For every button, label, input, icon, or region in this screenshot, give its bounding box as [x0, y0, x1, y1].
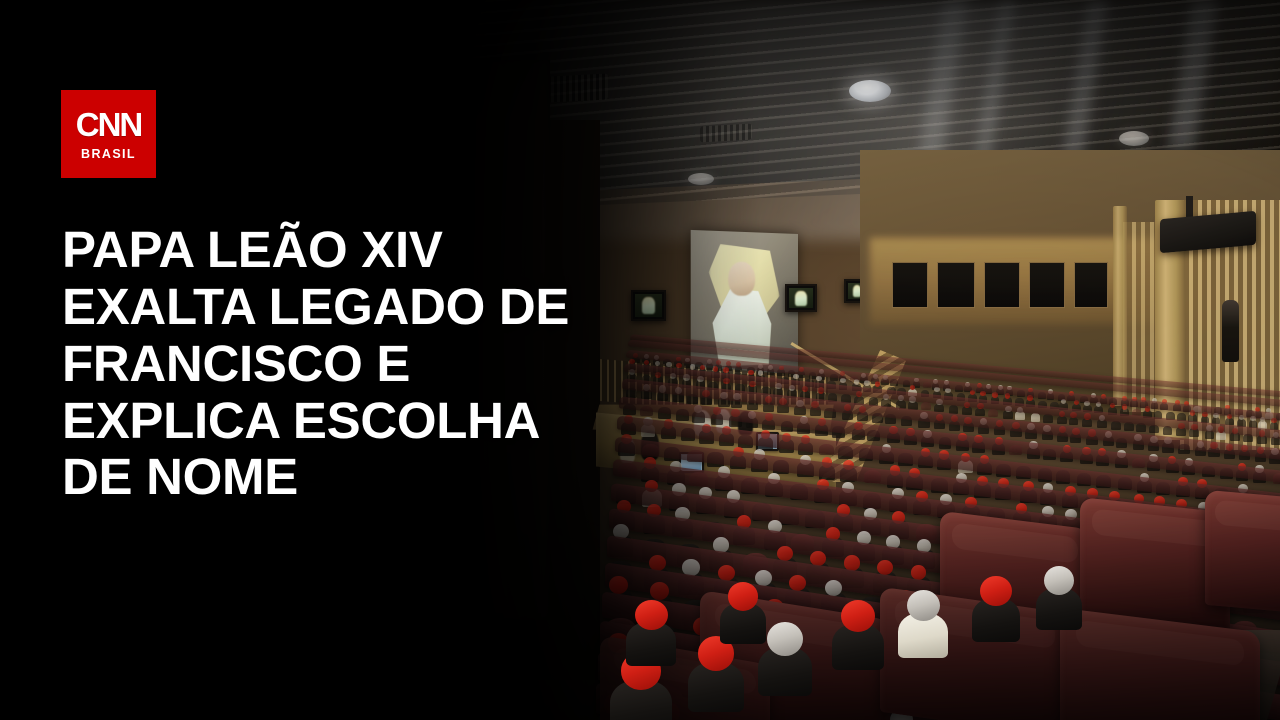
- ceiling-dome-light: [849, 80, 891, 102]
- foreground-seat: [1205, 490, 1280, 615]
- cnn-brasil-logo[interactable]: CNN BRASIL: [61, 90, 156, 178]
- person-head: [841, 600, 875, 632]
- foreground-cardinal: [720, 582, 766, 644]
- foreground-cardinal: [688, 636, 744, 712]
- foreground-cardinal: [626, 600, 676, 666]
- person-head: [782, 373, 788, 378]
- person-head: [877, 560, 893, 575]
- person-head: [735, 368, 741, 373]
- logo-cnn-text: CNN: [76, 108, 142, 141]
- logo-brasil-text: BRASIL: [81, 148, 136, 161]
- foreground-cardinal: [898, 590, 948, 658]
- ceiling-vent: [700, 124, 752, 143]
- foreground-cardinal: [972, 576, 1020, 642]
- person-head: [907, 590, 940, 621]
- foreground-cardinal: [1036, 566, 1082, 630]
- person-head: [635, 600, 668, 630]
- empty-seat: [921, 402, 931, 410]
- overlay-content: CNN BRASIL PAPA LEÃO XIV EXALTA LEGADO D…: [0, 0, 700, 720]
- person-head: [713, 366, 719, 371]
- person-head: [748, 370, 754, 375]
- foreground-cardinal: [758, 622, 812, 696]
- person-head: [980, 576, 1012, 606]
- headline-text: PAPA LEÃO XIV EXALTA LEGADO DE FRANCISCO…: [62, 222, 642, 506]
- person-head: [767, 622, 803, 656]
- person-head: [758, 370, 764, 375]
- person-head: [723, 367, 729, 372]
- person-head: [793, 374, 799, 379]
- news-thumbnail: CNN BRASIL PAPA LEÃO XIV EXALTA LEGADO D…: [0, 0, 1280, 720]
- foreground-cardinal: [832, 600, 884, 670]
- person-head: [728, 582, 758, 611]
- person-head: [911, 565, 927, 580]
- ceiling-dome-light: [1119, 131, 1149, 146]
